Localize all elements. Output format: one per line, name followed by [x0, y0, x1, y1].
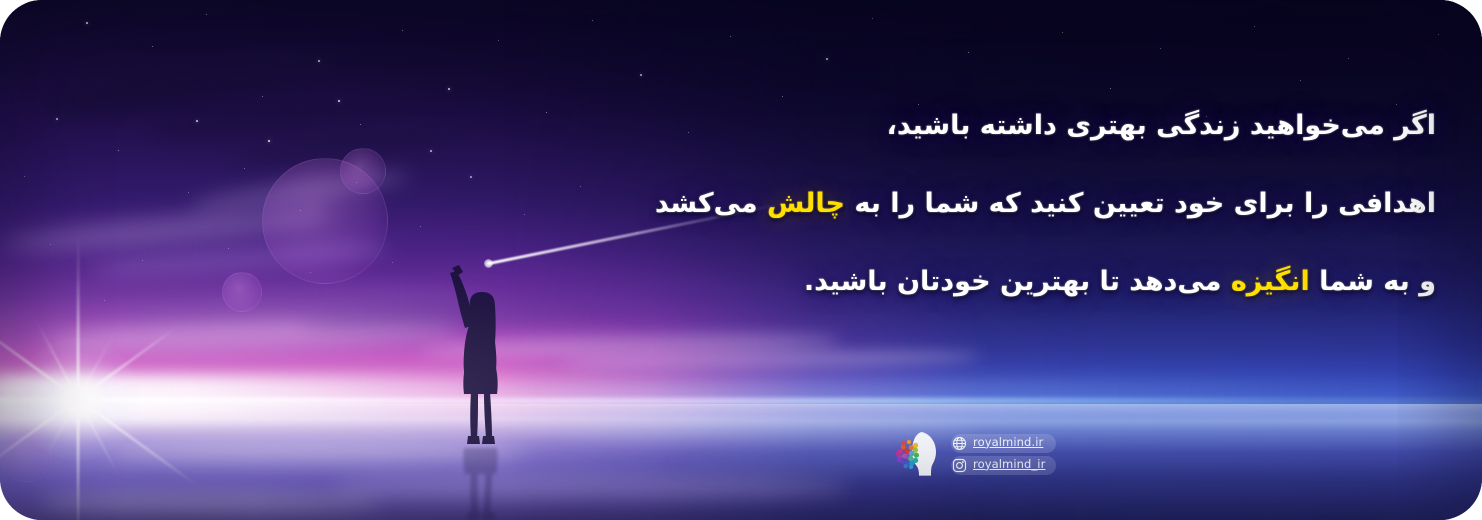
quote-block: اگر می‌خواهید زندگی بهتری داشته باشید، ا…: [436, 112, 1436, 295]
star: [826, 58, 828, 60]
water-streak: [40, 490, 380, 514]
brand-link-website-label: royalmind.ir: [973, 437, 1043, 450]
quote-line-1: اگر می‌خواهید زندگی بهتری داشته باشید،: [436, 112, 1436, 139]
lens-bokeh-circle: [340, 148, 386, 194]
brand-links: royalmind.ir royalmind_ir: [951, 434, 1056, 475]
quote-line-3-after: می‌دهد تا بهترین خودتان باشید.: [804, 266, 1231, 297]
brand-link-instagram-label: royalmind_ir: [973, 459, 1045, 472]
star: [318, 60, 320, 62]
lens-bokeh-circle: [222, 272, 262, 312]
brand-block: royalmind.ir royalmind_ir: [893, 429, 1056, 479]
brand-link-website[interactable]: royalmind.ir: [951, 434, 1056, 453]
quote-line-2-before: اهدافی را برای خود تعیین کنید که شما را …: [845, 188, 1436, 219]
star: [338, 100, 340, 102]
water-streak: [330, 474, 850, 500]
quote-line-2-highlight: چالش: [767, 188, 845, 219]
quote-line-3-highlight: انگیزه: [1231, 266, 1310, 297]
quote-line-2-after: می‌کشد: [655, 188, 767, 219]
globe-icon: [952, 436, 967, 451]
motivational-banner: اگر می‌خواهید زندگی بهتری داشته باشید، ا…: [0, 0, 1482, 520]
quote-line-3: و به شما انگیزه می‌دهد تا بهترین خودتان …: [436, 268, 1436, 295]
quote-line-3-before: و به شما: [1310, 266, 1436, 297]
head-profile-rainbow-brain-icon: [893, 429, 943, 479]
burst-ray: [0, 398, 338, 401]
star: [448, 88, 450, 90]
instagram-icon: [952, 458, 967, 473]
star: [196, 120, 198, 122]
star: [430, 150, 432, 152]
star: [640, 74, 642, 76]
star: [268, 140, 270, 142]
quote-line-2: اهدافی را برای خود تعیین کنید که شما را …: [436, 190, 1436, 217]
person-silhouette-reflection: [432, 428, 552, 520]
star: [86, 22, 88, 24]
quote-line-1-text: اگر می‌خواهید زندگی بهتری داشته باشید،: [887, 110, 1436, 141]
brand-link-instagram[interactable]: royalmind_ir: [951, 456, 1056, 475]
star: [56, 118, 58, 120]
